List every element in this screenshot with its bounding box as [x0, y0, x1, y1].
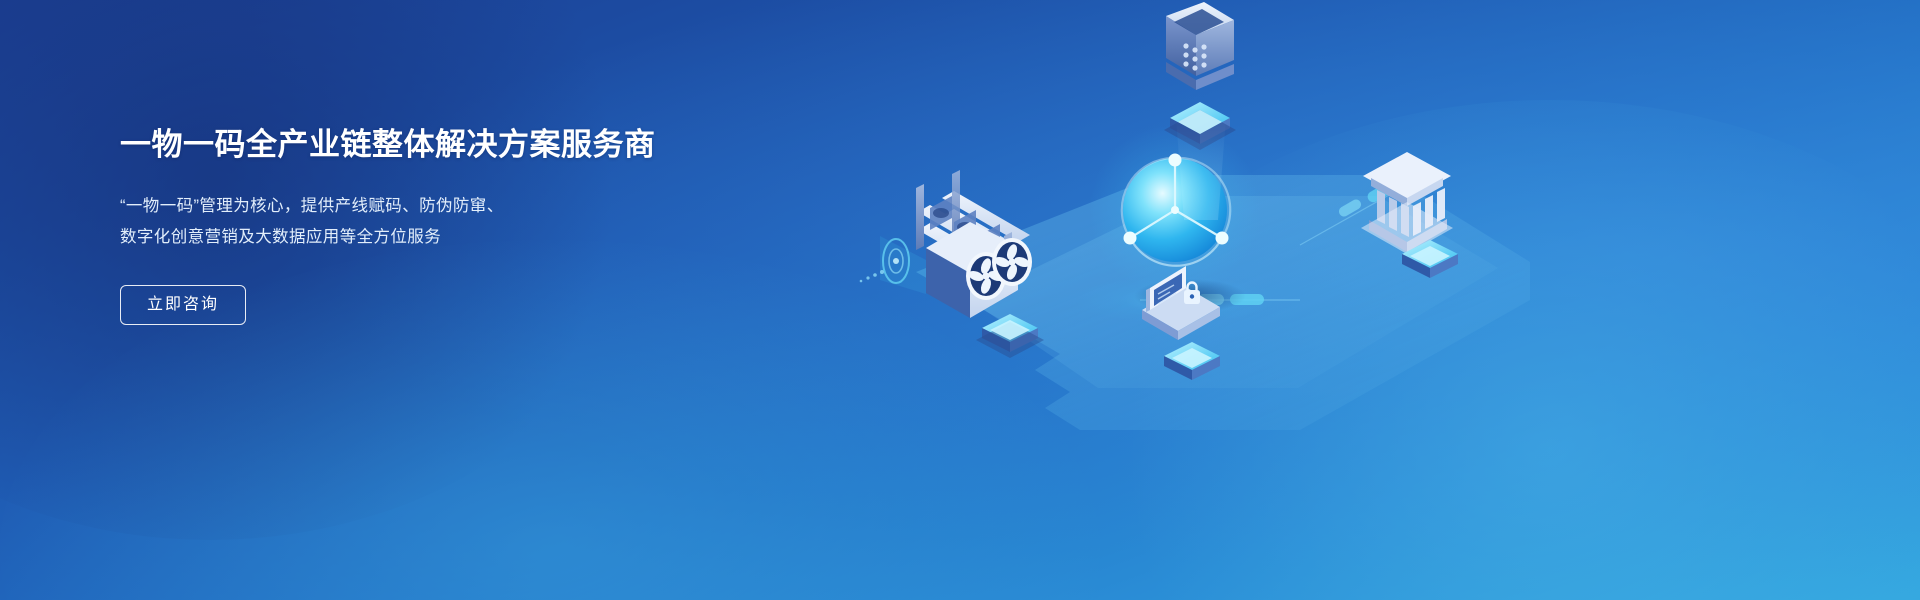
hero-banner: 一物一码全产业链整体解决方案服务商 “一物一码”管理为核心，提供产线赋码、防伪防…	[0, 0, 1920, 600]
hero-copy-block: 一物一码全产业链整体解决方案服务商 “一物一码”管理为核心，提供产线赋码、防伪防…	[120, 126, 760, 325]
hero-subtext-line-2: 数字化创意营销及大数据应用等全方位服务	[120, 222, 760, 253]
pos-terminal	[1166, 2, 1234, 90]
page-title: 一物一码全产业链整体解决方案服务商	[120, 126, 760, 165]
hero-illustration	[830, 0, 1590, 600]
server-fan-rack	[860, 170, 1032, 318]
hero-subtext-line-1: “一物一码”管理为核心，提供产线赋码、防伪防窜、	[120, 191, 760, 222]
consult-now-button[interactable]: 立即咨询	[120, 285, 246, 325]
hero-subtext: “一物一码”管理为核心，提供产线赋码、防伪防窜、 数字化创意营销及大数据应用等全…	[120, 191, 760, 253]
